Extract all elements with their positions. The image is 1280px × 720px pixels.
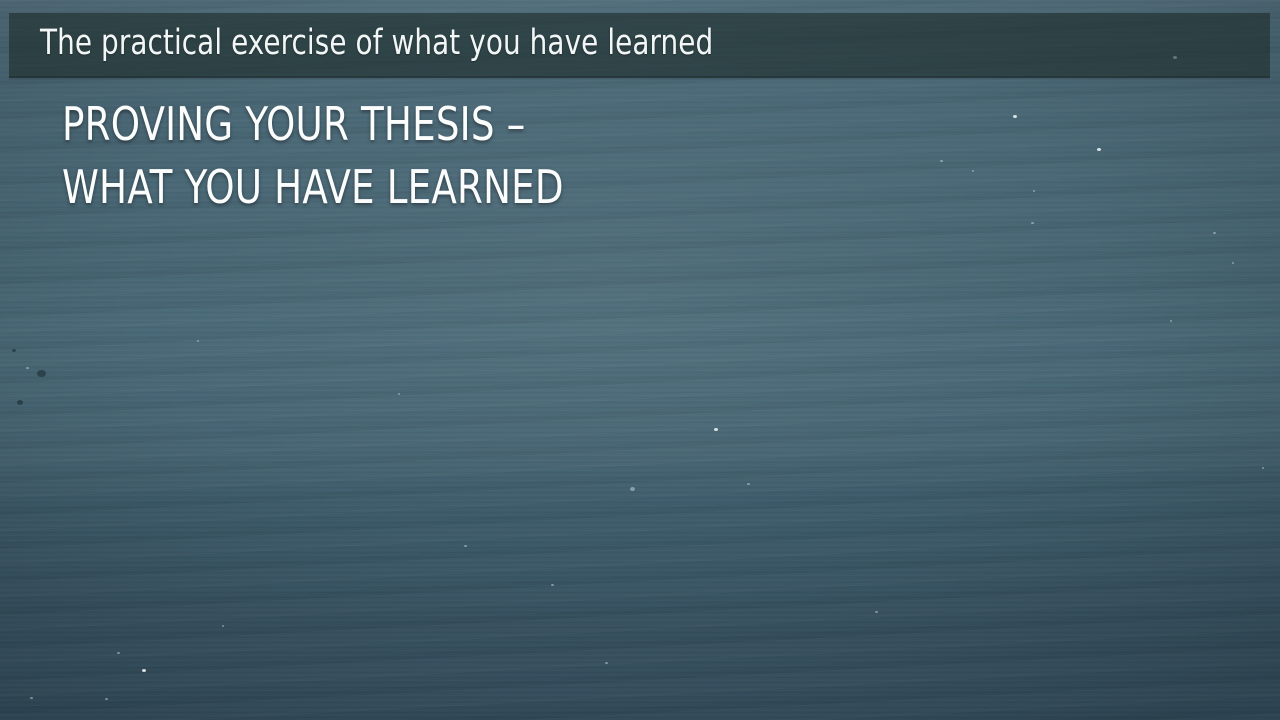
slide-title-line-2: WHAT YOU HAVE LEARNED (62, 156, 1052, 219)
slide-title: PROVING YOUR THESIS – WHAT YOU HAVE LEAR… (62, 93, 1052, 219)
slide-title-line-1: PROVING YOUR THESIS – (62, 93, 1052, 156)
slide-subtitle: The practical exercise of what you have … (40, 21, 1084, 65)
slide-canvas: The practical exercise of what you have … (0, 0, 1280, 720)
